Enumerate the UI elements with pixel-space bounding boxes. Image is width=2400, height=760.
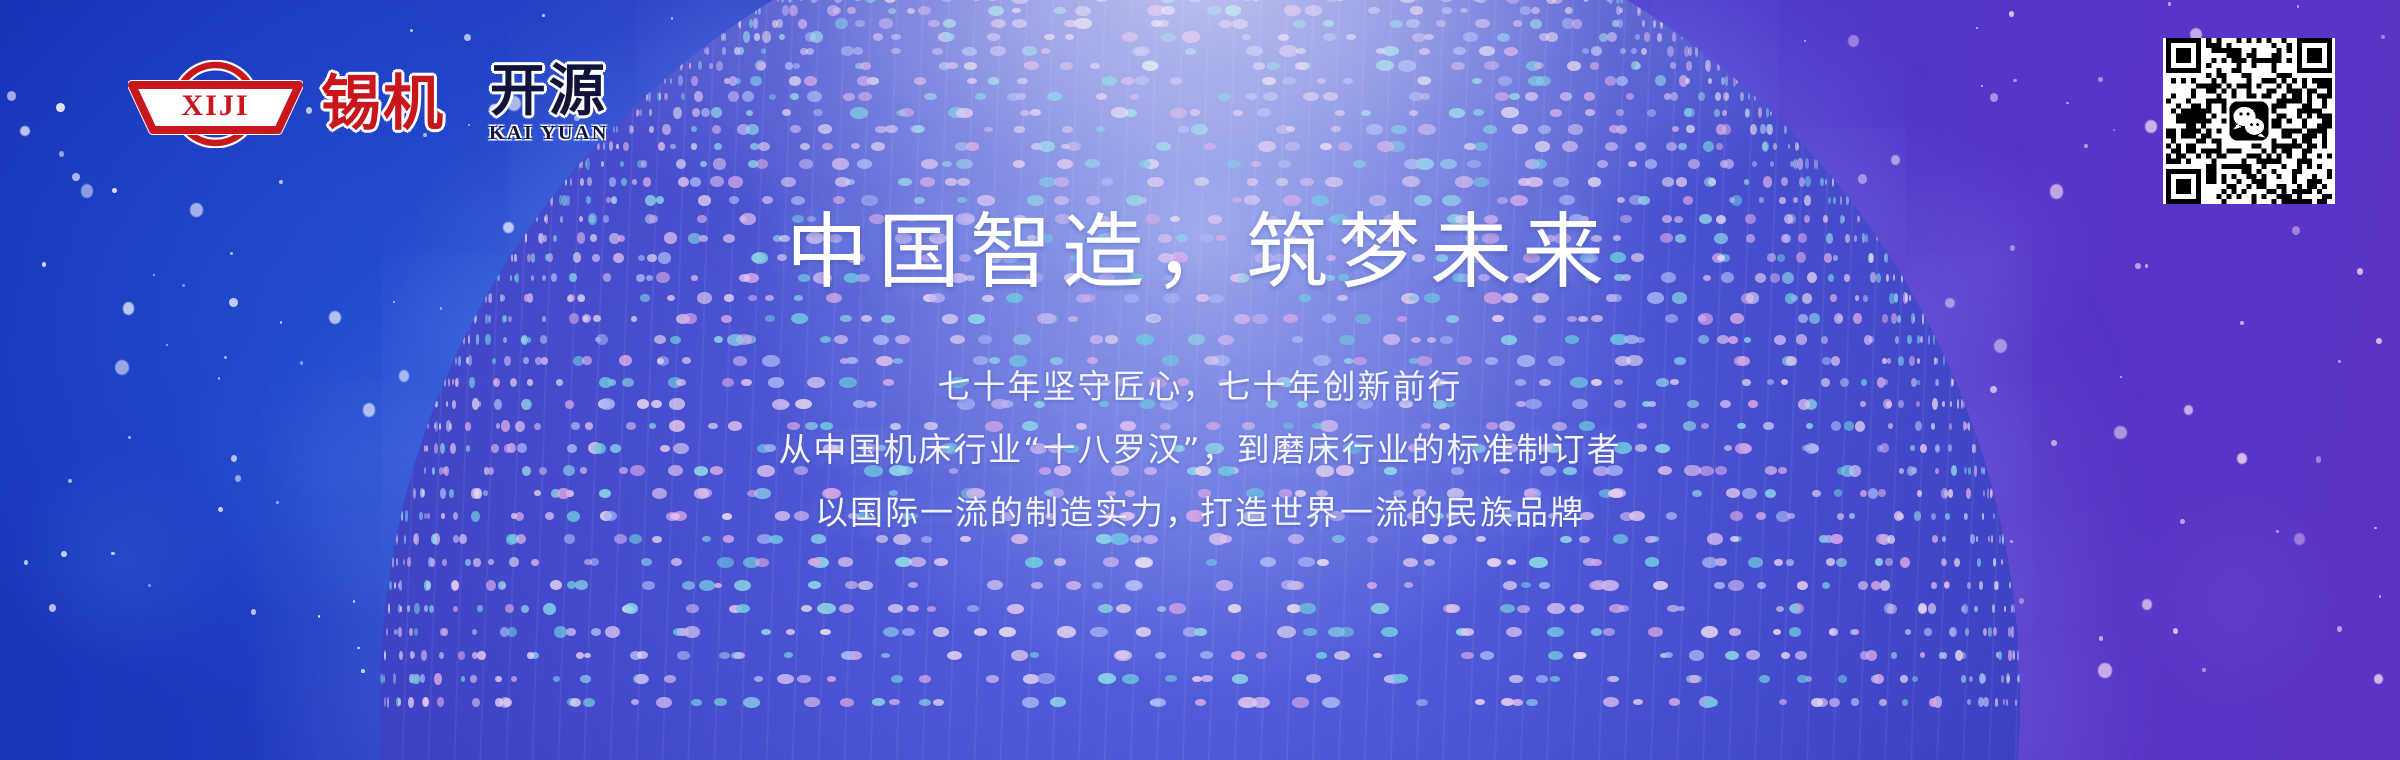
globe-dot: [648, 91, 651, 102]
globe-dot: [677, 651, 689, 659]
globe-dot: [927, 606, 936, 612]
globe-dot: [1631, 48, 1636, 54]
globe-dot: [649, 126, 654, 134]
globe-dot: [699, 580, 716, 591]
globe-dot: [957, 197, 967, 203]
globe-dot: [1900, 557, 1910, 568]
wechat-qr-code[interactable]: [2163, 38, 2335, 204]
globe-dot: [621, 178, 627, 185]
globe-dot: [1846, 195, 1848, 205]
globe-dot: [1335, 110, 1345, 116]
particle-dot: [2019, 598, 2024, 603]
globe-dot: [667, 295, 675, 301]
globe-dot: [1762, 141, 1769, 151]
globe-dot: [1965, 628, 1970, 635]
globe-dot: [1011, 0, 1029, 4]
globe-dot: [881, 653, 890, 659]
globe-dot: [729, 76, 737, 85]
globe-dot: [1161, 33, 1175, 42]
globe-dot: [765, 315, 775, 322]
globe-dot: [691, 126, 697, 132]
globe-dot: [429, 605, 434, 613]
globe-dot: [1687, 108, 1695, 117]
globe-dot: [1022, 697, 1039, 707]
globe-dot: [1453, 47, 1465, 55]
globe-dot: [967, 605, 979, 612]
globe-dot: [988, 6, 1004, 16]
globe-dot: [1404, 582, 1413, 588]
globe-dot: [964, 62, 977, 70]
globe-dot: [1588, 177, 1602, 186]
globe-dot: [808, 581, 821, 589]
globe-dot: [1858, 581, 1868, 590]
globe-dot: [879, 18, 894, 29]
globe-dot: [1191, 124, 1208, 135]
globe-dot: [799, 159, 812, 168]
globe-dot: [1096, 93, 1107, 100]
globe-dot: [790, 93, 799, 100]
globe-dot: [1501, 698, 1514, 706]
globe-dot: [1774, 559, 1783, 566]
globe-dot: [987, 580, 1003, 590]
particle-dot: [2337, 626, 2342, 632]
globe-dot: [611, 196, 618, 204]
globe-dot: [531, 559, 539, 566]
globe-dot: [1550, 109, 1562, 117]
globe-dot: [1506, 627, 1522, 637]
globe-dot: [1065, 34, 1074, 40]
globe-dot: [670, 144, 675, 150]
globe-dot: [748, 295, 757, 301]
globe-dot: [928, 20, 940, 28]
globe-dot: [1826, 558, 1835, 566]
globe-dot: [451, 580, 459, 591]
globe-dot: [1383, 334, 1400, 345]
globe-dot: [1371, 603, 1388, 614]
globe-dot: [1929, 698, 1937, 707]
globe-dot: [845, 581, 858, 589]
globe-dot: [1703, 141, 1715, 153]
globe-dot: [1231, 651, 1245, 660]
globe-dot: [1122, 674, 1139, 685]
globe-dot: [924, 93, 936, 101]
globe-dot: [714, 143, 722, 150]
particle-dot: [81, 184, 94, 198]
particle-dot: [1981, 85, 1983, 87]
globe-dot: [1995, 698, 1999, 707]
globe-dot: [473, 558, 480, 567]
globe-dot: [1795, 651, 1807, 661]
globe-dot: [587, 177, 592, 186]
globe-dot: [919, 675, 932, 683]
globe-dot: [2009, 581, 2011, 589]
globe-dot: [807, 91, 822, 102]
globe-dot: [584, 559, 592, 565]
globe-dot: [580, 675, 590, 683]
globe-dot: [1403, 558, 1418, 567]
particle-dot: [279, 180, 283, 184]
globe-dot: [833, 196, 845, 204]
globe-dot: [1918, 603, 1927, 613]
globe-dot: [1440, 0, 1453, 2]
globe-dot: [620, 161, 624, 167]
globe-dot: [664, 78, 666, 84]
globe-dot: [1246, 93, 1257, 100]
globe-dot: [1501, 335, 1517, 345]
globe-dot: [649, 109, 653, 116]
globe-dot: [833, 7, 841, 15]
globe-dot: [1578, 316, 1587, 322]
globe-dot: [1096, 126, 1105, 132]
globe-dot: [549, 606, 555, 612]
globe-dot: [1863, 295, 1868, 302]
globe-dot: [782, 109, 791, 116]
globe-dot: [1637, 5, 1640, 16]
globe-dot: [1850, 629, 1856, 635]
globe-dot: [1501, 107, 1518, 118]
globe-dot: [776, 19, 783, 28]
particle-dot: [1994, 339, 2007, 353]
globe-dot: [1190, 109, 1201, 116]
globe-dot: [722, 47, 727, 55]
globe-dot: [827, 676, 836, 682]
globe-dot: [2013, 651, 2015, 660]
globe-dot: [511, 676, 517, 682]
globe-dot: [1967, 582, 1971, 589]
globe-dot: [609, 177, 616, 186]
globe-dot: [1064, 20, 1076, 28]
globe-dot: [1225, 5, 1242, 15]
globe-dot: [593, 315, 601, 322]
globe-dot: [1669, 698, 1681, 706]
globe-dot: [1667, 46, 1674, 57]
globe-dot: [1838, 675, 1847, 683]
globe-dot: [1567, 316, 1577, 322]
globe-dot: [777, 0, 779, 2]
globe-dot: [1311, 195, 1329, 206]
globe-dot: [1090, 63, 1101, 70]
globe-dot: [691, 699, 701, 706]
globe-dot: [1853, 313, 1861, 324]
globe-dot: [731, 652, 742, 659]
globe-dot: [1397, 316, 1407, 322]
globe-dot: [1446, 604, 1460, 613]
globe-dot: [1983, 697, 1988, 707]
globe-dot: [1323, 92, 1339, 102]
globe-dot: [1169, 603, 1186, 613]
globe-dot: [1745, 109, 1749, 117]
globe-dot: [1536, 675, 1548, 683]
globe-dot: [1722, 110, 1726, 116]
globe-dot: [1605, 76, 1617, 86]
globe-dot: [641, 160, 647, 168]
globe-dot: [1961, 606, 1965, 612]
globe-dot: [1325, 177, 1342, 188]
globe-dot: [1933, 334, 1935, 345]
globe-dot: [943, 19, 956, 27]
globe-dot: [1157, 606, 1166, 612]
globe-dot: [1752, 161, 1757, 167]
globe-dot: [1251, 161, 1261, 167]
globe-dot: [1942, 559, 1947, 566]
globe-dot: [1303, 92, 1318, 101]
globe-dot: [840, 315, 852, 322]
globe-dot: [1295, 62, 1309, 71]
globe-dot: [641, 558, 652, 566]
globe-dot: [1967, 699, 1971, 705]
globe-dot: [565, 178, 567, 187]
globe-dot: [2006, 673, 2010, 684]
particle-dot: [2240, 321, 2244, 325]
globe-dot: [485, 293, 487, 303]
globe-dot: [1983, 628, 1988, 637]
globe-dot: [789, 76, 801, 86]
globe-dot: [1722, 124, 1732, 136]
globe-dot: [1188, 334, 1205, 344]
globe-dot: [671, 558, 683, 566]
subtitle-block: 七十年坚守匠心，七十年创新前行 从中国机床行业“十八罗汉”，到磨床行业的标准制订…: [0, 355, 2400, 544]
globe-dot: [677, 628, 689, 637]
globe-dot: [2008, 627, 2011, 638]
globe-dot: [1526, 699, 1538, 706]
globe-dot: [1998, 651, 2002, 660]
globe-dot: [1695, 46, 1698, 57]
globe-dot: [857, 159, 872, 169]
globe-dot: [834, 335, 848, 344]
globe-dot: [1795, 142, 1798, 150]
globe-dot: [1473, 177, 1489, 187]
globe-dot: [1204, 143, 1216, 151]
globe-dot: [854, 0, 861, 1]
globe-dot: [1770, 161, 1775, 167]
globe-dot: [1338, 142, 1352, 151]
globe-dot: [1460, 8, 1468, 14]
globe-dot: [463, 334, 465, 345]
particle-dot: [361, 669, 365, 673]
globe-dot: [1322, 697, 1340, 708]
globe-dot: [1748, 93, 1750, 100]
globe-dot: [509, 557, 519, 567]
globe-dot: [881, 315, 894, 323]
globe-dot: [1531, 7, 1540, 14]
globe-dot: [986, 675, 999, 683]
globe-dot: [670, 78, 672, 84]
globe-dot: [891, 34, 900, 41]
particle-dot: [1858, 174, 1867, 184]
globe-dot: [1027, 195, 1044, 206]
globe-dot: [1305, 5, 1323, 16]
globe-dot: [871, 142, 885, 151]
globe-dot: [1317, 78, 1326, 84]
globe-dot: [1416, 699, 1428, 706]
globe-dot: [1797, 581, 1808, 590]
globe-dot: [1278, 34, 1289, 41]
globe-dot: [1550, 676, 1560, 682]
globe-dot: [777, 674, 794, 685]
globe-dot: [1547, 603, 1565, 614]
globe-dot: [470, 675, 477, 683]
globe-dot: [1331, 126, 1341, 132]
globe-dot: [1373, 653, 1382, 659]
kaiyuan-pinyin: KAI YUAN: [489, 122, 609, 145]
globe-dot: [1638, 196, 1650, 205]
globe-dot: [1653, 20, 1656, 28]
globe-dot: [1440, 336, 1453, 344]
globe-dot: [1195, 699, 1206, 706]
globe-dot: [1276, 178, 1288, 185]
globe-dot: [654, 335, 666, 344]
globe-dot: [1573, 652, 1586, 660]
globe-dot: [1666, 142, 1677, 151]
particle-dot: [2084, 144, 2088, 148]
globe-dot: [658, 142, 665, 150]
globe-dot: [409, 628, 413, 636]
globe-dot: [1376, 60, 1394, 71]
globe-dot: [393, 673, 397, 684]
globe-dot: [399, 580, 403, 591]
globe-dot: [1334, 651, 1349, 661]
globe-dot: [1303, 628, 1317, 637]
globe-dot: [1284, 5, 1301, 16]
globe-dot: [1880, 580, 1891, 591]
globe-dot: [408, 697, 413, 708]
globe-dot: [1676, 177, 1687, 186]
globe-dot: [1521, 582, 1530, 588]
globe-dot: [1161, 0, 1175, 3]
globe-dot: [1829, 629, 1836, 635]
globe-dot: [1678, 143, 1687, 151]
globe-dot: [822, 143, 833, 150]
globe-dot: [458, 651, 465, 660]
globe-dot: [678, 75, 683, 86]
globe-dot: [716, 61, 723, 71]
globe-dot: [1170, 77, 1182, 84]
globe-dot: [793, 63, 800, 69]
globe-dot: [1670, 62, 1676, 69]
globe-dot: [384, 697, 386, 707]
globe-dot: [1011, 650, 1028, 661]
globe-dot: [1759, 675, 1770, 683]
globe-dot: [746, 124, 760, 135]
globe-dot: [1829, 698, 1840, 707]
globe-dot: [1475, 19, 1489, 29]
globe-dot: [1662, 177, 1674, 186]
globe-dot: [1136, 334, 1153, 345]
globe-dot: [1891, 652, 1898, 659]
globe-dot: [477, 651, 486, 661]
globe-dot: [1479, 46, 1495, 57]
particle-dot: [2202, 668, 2205, 672]
globe-dot: [1785, 125, 1787, 134]
globe-dot: [1473, 109, 1484, 116]
globe-dot: [1258, 141, 1276, 152]
globe-dot: [1773, 143, 1777, 150]
globe-dot: [1790, 161, 1794, 167]
globe-dot: [810, 0, 818, 3]
globe-dot: [632, 179, 637, 185]
globe-dot: [384, 652, 386, 660]
globe-dot: [1954, 558, 1960, 567]
globe-dot: [1412, 33, 1426, 42]
globe-dot: [1417, 76, 1432, 85]
globe-dot: [1601, 580, 1619, 591]
globe-dot: [786, 629, 795, 635]
globe-dot: [1591, 46, 1602, 56]
globe-dot: [907, 605, 918, 612]
globe-dot: [1887, 604, 1897, 614]
globe-dot: [1139, 160, 1151, 168]
particle-dot: [671, 17, 674, 20]
globe-dot: [1279, 45, 1298, 57]
globe-dot: [1730, 313, 1744, 324]
globe-dot: [1902, 699, 1908, 706]
globe-dot: [1495, 92, 1509, 101]
globe-dot: [583, 698, 594, 707]
globe-dot: [710, 176, 723, 187]
globe-dot: [727, 334, 744, 346]
globe-dot: [717, 557, 733, 568]
globe-dot: [1820, 178, 1823, 187]
globe-dot: [1219, 20, 1232, 28]
globe-dot: [1539, 582, 1549, 588]
globe-dot: [1525, 92, 1538, 100]
globe-dot: [1750, 124, 1757, 135]
globe-dot: [1030, 652, 1039, 658]
globe-dot: [738, 47, 744, 55]
globe-dot: [1024, 61, 1039, 70]
particle-dot: [1990, 93, 1998, 102]
globe-dot: [1922, 313, 1924, 325]
globe-dot: [1283, 195, 1301, 206]
globe-dot: [1546, 32, 1558, 42]
particle-dot: [2379, 595, 2381, 597]
globe-dot: [919, 699, 931, 706]
globe-dot: [1828, 197, 1831, 204]
globe-dot: [1567, 61, 1581, 72]
globe-dot: [1057, 626, 1076, 638]
globe-dot: [1410, 6, 1424, 15]
globe-dot: [1054, 7, 1066, 15]
globe-dot: [1744, 179, 1750, 185]
globe-dot: [728, 176, 743, 188]
globe-dot: [820, 336, 831, 343]
globe-dot: [1728, 336, 1738, 344]
globe-dot: [968, 314, 984, 324]
globe-dot: [1698, 92, 1705, 101]
globe-dot: [1218, 335, 1234, 345]
globe-dot: [1553, 177, 1569, 188]
globe-dot: [1621, 0, 1623, 4]
kaiyuan-logo: 开源 KAI YUAN: [489, 63, 609, 145]
globe-dot: [411, 674, 416, 684]
wechat-icon: [2229, 101, 2268, 140]
globe-dot: [1147, 177, 1164, 187]
globe-dot: [1194, 628, 1207, 636]
particle-dot: [1891, 155, 1900, 165]
globe-dot: [1513, 20, 1522, 27]
globe-dot: [956, 108, 973, 118]
globe-dot: [1583, 0, 1589, 2]
globe-dot: [1253, 62, 1265, 70]
globe-dot: [1653, 581, 1668, 591]
globe-dot: [1418, 124, 1435, 135]
globe-dot: [1086, 196, 1100, 204]
globe-dot: [1251, 0, 1260, 1]
particle-dot: [353, 600, 355, 602]
globe-dot: [1227, 160, 1241, 169]
globe-dot: [527, 337, 531, 343]
globe-dot: [1132, 47, 1147, 56]
